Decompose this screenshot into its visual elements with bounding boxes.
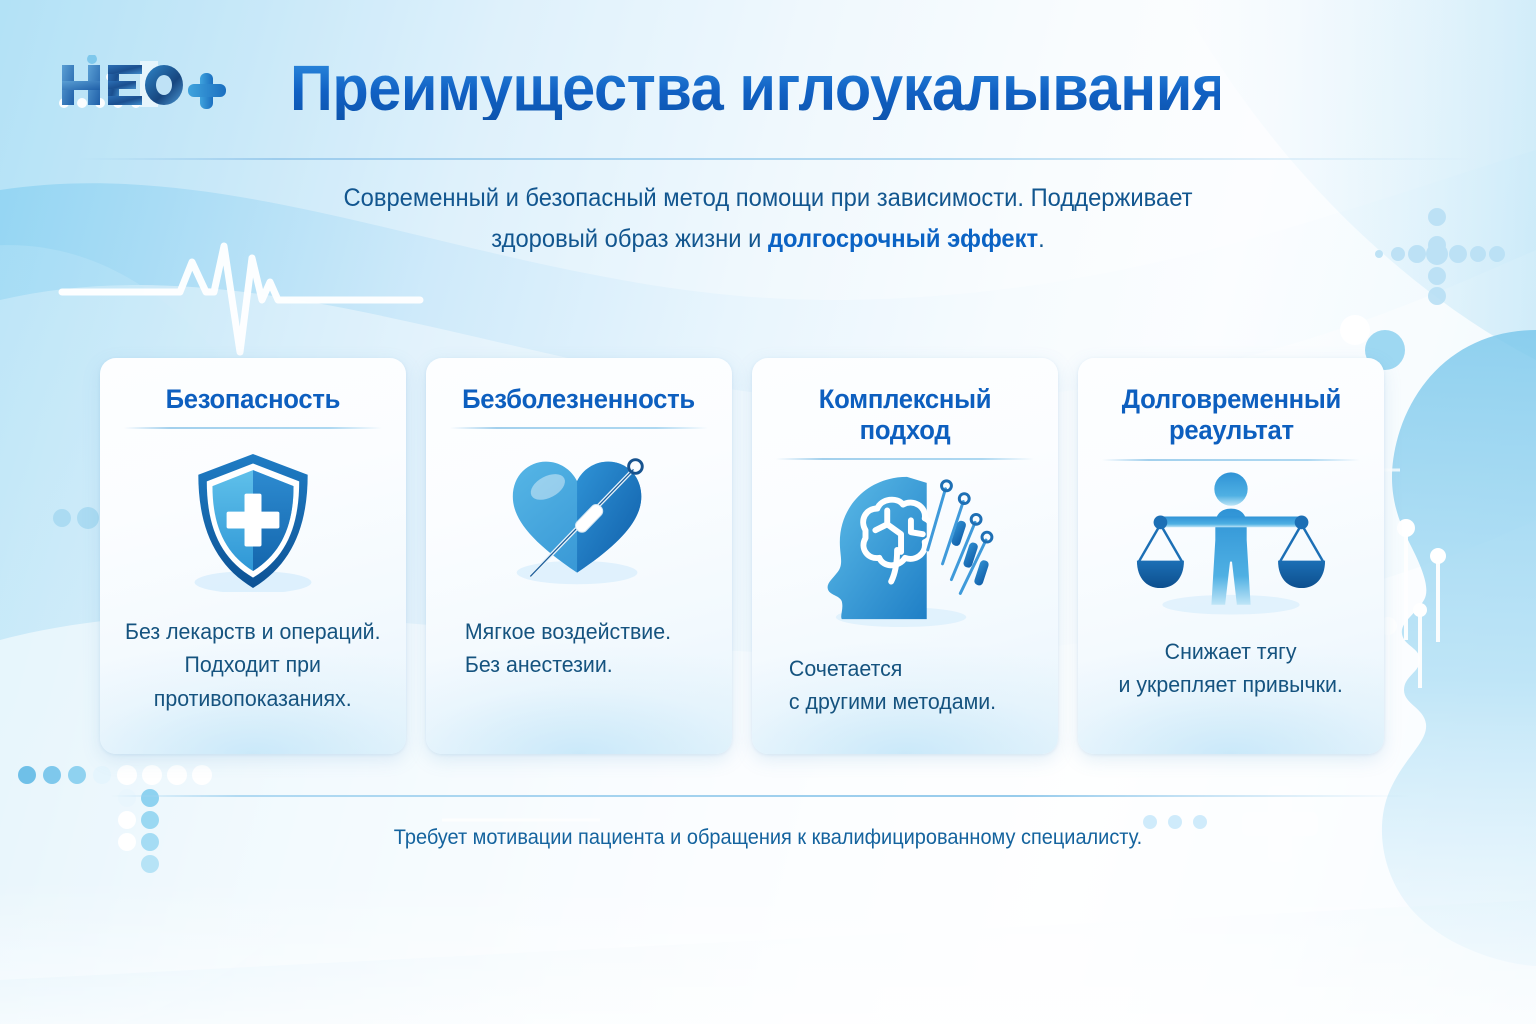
- balance-scales-person-icon: [1131, 455, 1331, 627]
- card-description: Сочетается с другими методами.: [771, 652, 996, 719]
- footer-note: Требует мотивации пациента и обращения к…: [293, 826, 1243, 850]
- subtitle-highlight: долгосрочный эффект: [768, 225, 1038, 253]
- decor-dot: [1340, 315, 1370, 345]
- benefit-card-complex-approach[interactable]: Комплексный подход: [752, 358, 1058, 754]
- card-divider: [776, 458, 1034, 460]
- benefit-card-painless[interactable]: Безболезненность: [426, 358, 732, 754]
- subtitle-line-2-suffix: .: [1038, 225, 1045, 253]
- footer-divider: [110, 795, 1410, 797]
- benefit-card-list: Безопасность: [100, 358, 1384, 754]
- ecg-heartbeat-line: [62, 246, 420, 352]
- card-divider: [450, 427, 708, 429]
- card-title: Долговременный реаультат: [1121, 384, 1340, 448]
- neo-plus-logo: [52, 55, 252, 117]
- card-title: Безопасность: [166, 384, 341, 416]
- infographic-canvas: Преимущества иглоукалывания Современный …: [0, 0, 1536, 1024]
- dot-grid-pattern: [18, 765, 212, 873]
- head-brain-needles-icon: [805, 462, 1005, 634]
- benefit-card-long-term-result[interactable]: Долговременный реаультат: [1078, 358, 1384, 754]
- shield-cross-icon: [153, 435, 353, 607]
- header-divider: [78, 158, 1478, 160]
- card-description: Снижает тягу и укрепляет привычки.: [1119, 635, 1343, 702]
- card-description: Без лекарств и операций. Подходит при пр…: [125, 615, 381, 715]
- dot-pair-left: [53, 507, 99, 529]
- subtitle-line-1: Современный и безопасный метод помощи пр…: [343, 184, 1192, 212]
- card-title: Комплексный подход: [775, 384, 1035, 447]
- header: Преимущества иглоукалывания: [0, 0, 1536, 152]
- page-title: Преимущества иглоукалывания: [290, 56, 1220, 120]
- heart-needle-icon: [479, 435, 679, 607]
- card-title: Безболезненность: [463, 384, 696, 416]
- dot-cross-pattern: [1375, 208, 1505, 305]
- benefit-card-safety[interactable]: Безопасность: [100, 358, 406, 754]
- face-silhouette: [1382, 330, 1536, 966]
- card-divider: [124, 427, 382, 429]
- white-cross-shape: [1242, 786, 1318, 862]
- card-description: Мягкое воздействие. Без анестезии.: [445, 615, 671, 682]
- subtitle: Современный и безопасный метод помощи пр…: [293, 178, 1243, 259]
- subtitle-line-2-prefix: здоровый образ жизни и: [491, 225, 768, 253]
